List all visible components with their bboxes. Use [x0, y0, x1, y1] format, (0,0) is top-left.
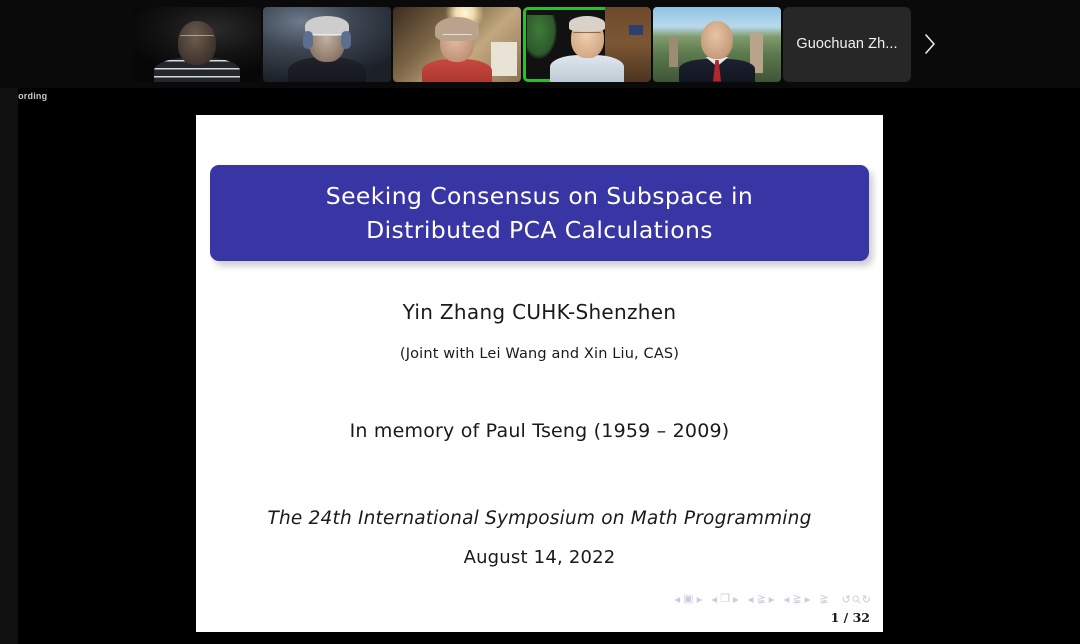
slide-author: Yin Zhang CUHK-Shenzhen	[196, 300, 883, 324]
nav-appendix-icon[interactable]: ≩	[819, 594, 828, 605]
nav-frame-next-icon[interactable]: ▶	[733, 596, 739, 604]
nav-slide-next-icon[interactable]: ▶	[697, 596, 703, 604]
participant-tile-1[interactable]	[133, 7, 261, 82]
nav-subsection-next-icon[interactable]: ▶	[769, 596, 775, 604]
nav-section-prev-icon[interactable]: ◀	[784, 596, 790, 604]
chevron-right-icon	[924, 33, 937, 55]
participant-1-head	[178, 21, 216, 65]
participant-4-book	[629, 25, 643, 35]
participant-2-glasses	[312, 34, 342, 39]
beamer-navigation-bar[interactable]: ◀ ▣ ▶ ◀ ❐ ▶ ◀ ≩ ▶ ◀ ≩ ▶ ≩	[674, 593, 871, 606]
slide-page-number: 1 / 32	[831, 610, 870, 625]
slide-title-line-2: Distributed PCA Calculations	[366, 213, 713, 247]
nav-appendix-group[interactable]: ≩	[819, 594, 828, 605]
nav-back-icon[interactable]: ↺	[842, 593, 851, 606]
slide-title-line-1: Seeking Consensus on Subspace in	[326, 179, 753, 213]
nav-frame-group[interactable]: ◀ ❐ ▶	[711, 594, 738, 605]
nav-frame-prev-icon[interactable]: ◀	[711, 596, 717, 604]
slide-title-block: Seeking Consensus on Subspace in Distrib…	[210, 165, 869, 261]
screen-share-left-gutter	[0, 88, 18, 644]
nav-forward-icon[interactable]: ↻	[862, 593, 871, 606]
nav-section-icon[interactable]: ≩	[792, 594, 801, 605]
participant-tile-5[interactable]	[653, 7, 781, 82]
participant-3-glasses	[442, 34, 472, 39]
shared-slide: Seeking Consensus on Subspace in Distrib…	[196, 115, 883, 632]
headset-earcup-left-icon	[303, 31, 313, 49]
search-icon[interactable]	[852, 595, 861, 604]
nav-subsection-icon[interactable]: ≩	[757, 594, 766, 605]
nav-subsection-prev-icon[interactable]: ◀	[748, 596, 754, 604]
participant-tile-4-active-speaker[interactable]	[523, 7, 651, 82]
slide-conference: The 24th International Symposium on Math…	[196, 508, 883, 529]
participant-filmstrip: Guochuan Zh...	[0, 0, 1080, 88]
participant-4-hair	[569, 16, 605, 31]
nav-subsection-group[interactable]: ◀ ≩ ▶	[748, 594, 775, 605]
slide-dedication: In memory of Paul Tseng (1959 – 2009)	[196, 420, 883, 442]
headset-earcup-right-icon	[341, 31, 351, 49]
participant-5-background-building	[669, 37, 678, 67]
participant-4-plant	[527, 15, 557, 59]
participant-4-torso	[550, 55, 624, 82]
slide-coauthors: (Joint with Lei Wang and Xin Liu, CAS)	[196, 346, 883, 362]
filmstrip-next-button[interactable]	[913, 7, 947, 82]
participant-4-glasses	[573, 32, 601, 37]
participant-name-label: Guochuan Zh...	[796, 36, 897, 52]
participant-5-hair	[700, 19, 734, 31]
nav-section-group[interactable]: ◀ ≩ ▶	[784, 594, 811, 605]
nav-slide-prev-icon[interactable]: ◀	[674, 596, 680, 604]
participant-3-wall-panel	[491, 42, 517, 76]
participant-tile-2[interactable]	[263, 7, 391, 82]
nav-slide-group[interactable]: ◀ ▣ ▶	[674, 594, 702, 605]
slide-date: August 14, 2022	[196, 547, 883, 568]
nav-section-next-icon[interactable]: ▶	[805, 596, 811, 604]
slide-body: Yin Zhang CUHK-Shenzhen (Joint with Lei …	[196, 275, 883, 568]
participant-3-torso	[422, 59, 492, 82]
participant-tile-3[interactable]	[393, 7, 521, 82]
nav-slide-icon[interactable]: ▣	[683, 594, 693, 605]
participant-tile-name-only[interactable]: Guochuan Zh...	[783, 7, 911, 82]
nav-zoom-group[interactable]: ↺ ↻	[842, 593, 871, 606]
zoom-screen-share-window: Guochuan Zh... Recording Seeking Consens…	[0, 0, 1080, 644]
nav-frame-icon[interactable]: ❐	[720, 594, 730, 605]
participant-1-glasses	[180, 35, 214, 40]
